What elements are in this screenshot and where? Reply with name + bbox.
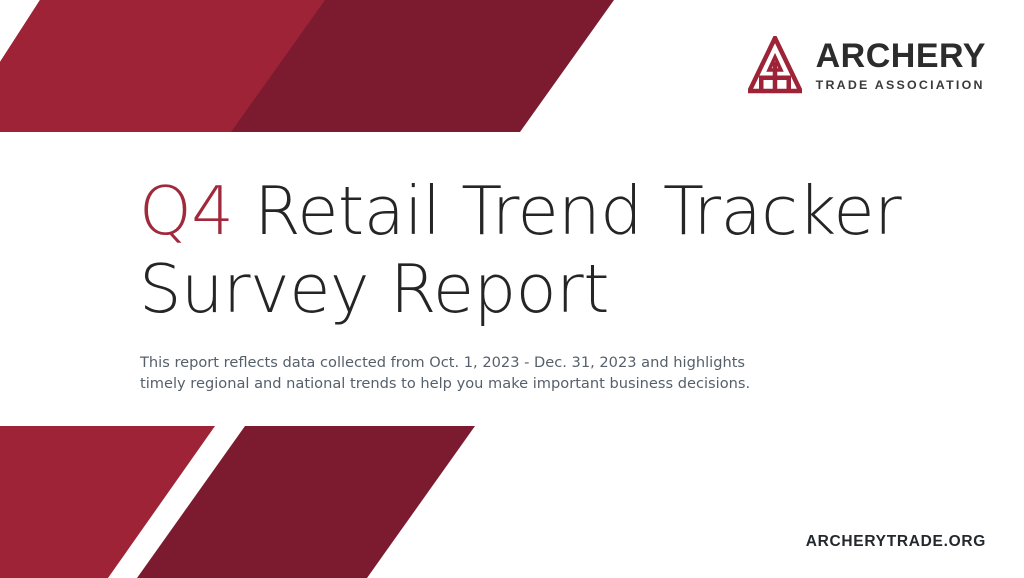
archery-triangle-arrow-icon (748, 36, 802, 94)
logo-text-group: ARCHERY TRADE ASSOCIATION (816, 37, 986, 93)
bottom-band-light-parallelogram (0, 426, 215, 578)
ata-logo-lockup: ARCHERY TRADE ASSOCIATION (748, 36, 986, 94)
title-line-1: Q4 Retail Trend Tracker (139, 172, 969, 250)
logo-tagline: TRADE ASSOCIATION (816, 78, 985, 93)
report-cover-page: ARCHERY TRADE ASSOCIATION Q4 Retail Tren… (0, 0, 1024, 578)
bottom-band-dark-parallelogram (137, 426, 475, 578)
subtitle-line-1: This report reflects data collected from… (140, 352, 740, 373)
page-subtitle: This report reflects data collected from… (140, 352, 740, 394)
top-band-light-parallelogram-main (0, 0, 253, 132)
title-line-1-rest: Retail Trend Tracker (233, 172, 901, 250)
top-band-light-parallelogram (0, 0, 252, 132)
diagonal-band-bottom (0, 426, 1024, 578)
subtitle-line-2: timely regional and national trends to h… (140, 373, 740, 394)
title-quarter-label: Q4 (139, 172, 233, 250)
top-band-dark-parallelogram (231, 0, 614, 132)
title-line-2: Survey Report (139, 250, 969, 328)
footer-website-url[interactable]: ARCHERYTRADE.ORG (806, 533, 986, 551)
page-title: Q4 Retail Trend Tracker Survey Report (139, 172, 969, 328)
logo-wordmark: ARCHERY (816, 39, 986, 74)
top-band-light-parallelogram-wide (0, 0, 329, 132)
